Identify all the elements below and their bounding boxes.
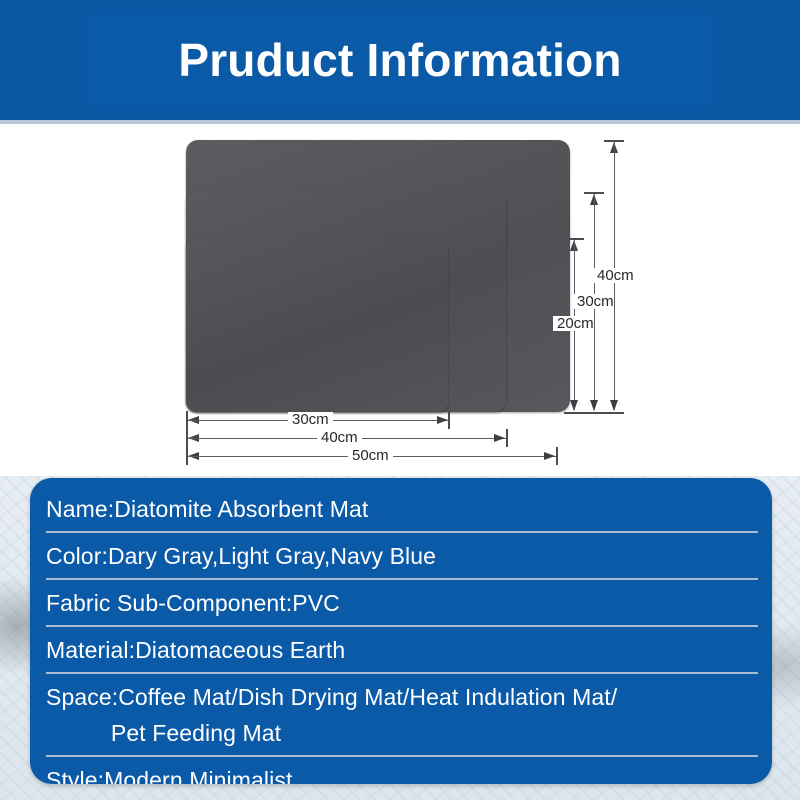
dim-v-20-bottom-tick <box>564 412 584 414</box>
dim-label-20cm: 20cm <box>553 316 598 331</box>
product-information-page: Pruduct Information 20cm 30cm 40cm 30cm … <box>0 0 800 800</box>
dim-h-40-arrow-right <box>494 434 505 442</box>
dim-label-40cm-vertical: 40cm <box>593 268 638 283</box>
dim-v-30-arrow-bottom <box>590 400 598 411</box>
dim-v-20-arrow-bottom <box>570 400 578 411</box>
page-title: Pruduct Information <box>0 0 800 120</box>
spec-row-fabric-sub-component: Fabric Sub-Component:PVC <box>46 580 758 627</box>
dim-h-40-right-tick <box>506 429 508 447</box>
dim-label-30cm-vertical: 30cm <box>573 294 618 309</box>
specification-list: Name:Diatomite Absorbent Mat Color:Dary … <box>46 486 758 784</box>
dim-v-30-bottom-tick <box>584 412 604 414</box>
spec-text-style: Style:Modern Minimalist <box>46 762 758 784</box>
spec-text-fabric-sub-component: Fabric Sub-Component:PVC <box>46 585 758 621</box>
dim-label-50cm-horizontal: 50cm <box>348 448 393 463</box>
dim-v-40-bottom-tick <box>604 412 624 414</box>
specification-panel: Name:Diatomite Absorbent Mat Color:Dary … <box>30 478 772 784</box>
spec-row-space: Space:Coffee Mat/Dish Drying Mat/Heat In… <box>46 674 758 757</box>
spec-row-material: Material:Diatomaceous Earth <box>46 627 758 674</box>
spec-text-name: Name:Diatomite Absorbent Mat <box>46 491 758 527</box>
dim-label-30cm-horizontal: 30cm <box>288 412 333 427</box>
spec-text-color: Color:Dary Gray,Light Gray,Navy Blue <box>46 538 758 574</box>
dim-h-30-arrow-right <box>437 416 448 424</box>
spec-text-space: Space:Coffee Mat/Dish Drying Mat/Heat In… <box>46 679 758 751</box>
dim-h-50-right-tick <box>556 447 558 465</box>
dim-h-30-right-tick <box>448 411 450 429</box>
spec-row-name: Name:Diatomite Absorbent Mat <box>46 486 758 533</box>
mat-small <box>186 238 448 412</box>
spec-row-color: Color:Dary Gray,Light Gray,Navy Blue <box>46 533 758 580</box>
spec-row-style: Style:Modern Minimalist <box>46 757 758 784</box>
dim-h-50-arrow-right <box>544 452 555 460</box>
dim-label-40cm-horizontal: 40cm <box>317 430 362 445</box>
spec-text-material: Material:Diatomaceous Earth <box>46 632 758 668</box>
dim-v-40-arrow-bottom <box>610 400 618 411</box>
